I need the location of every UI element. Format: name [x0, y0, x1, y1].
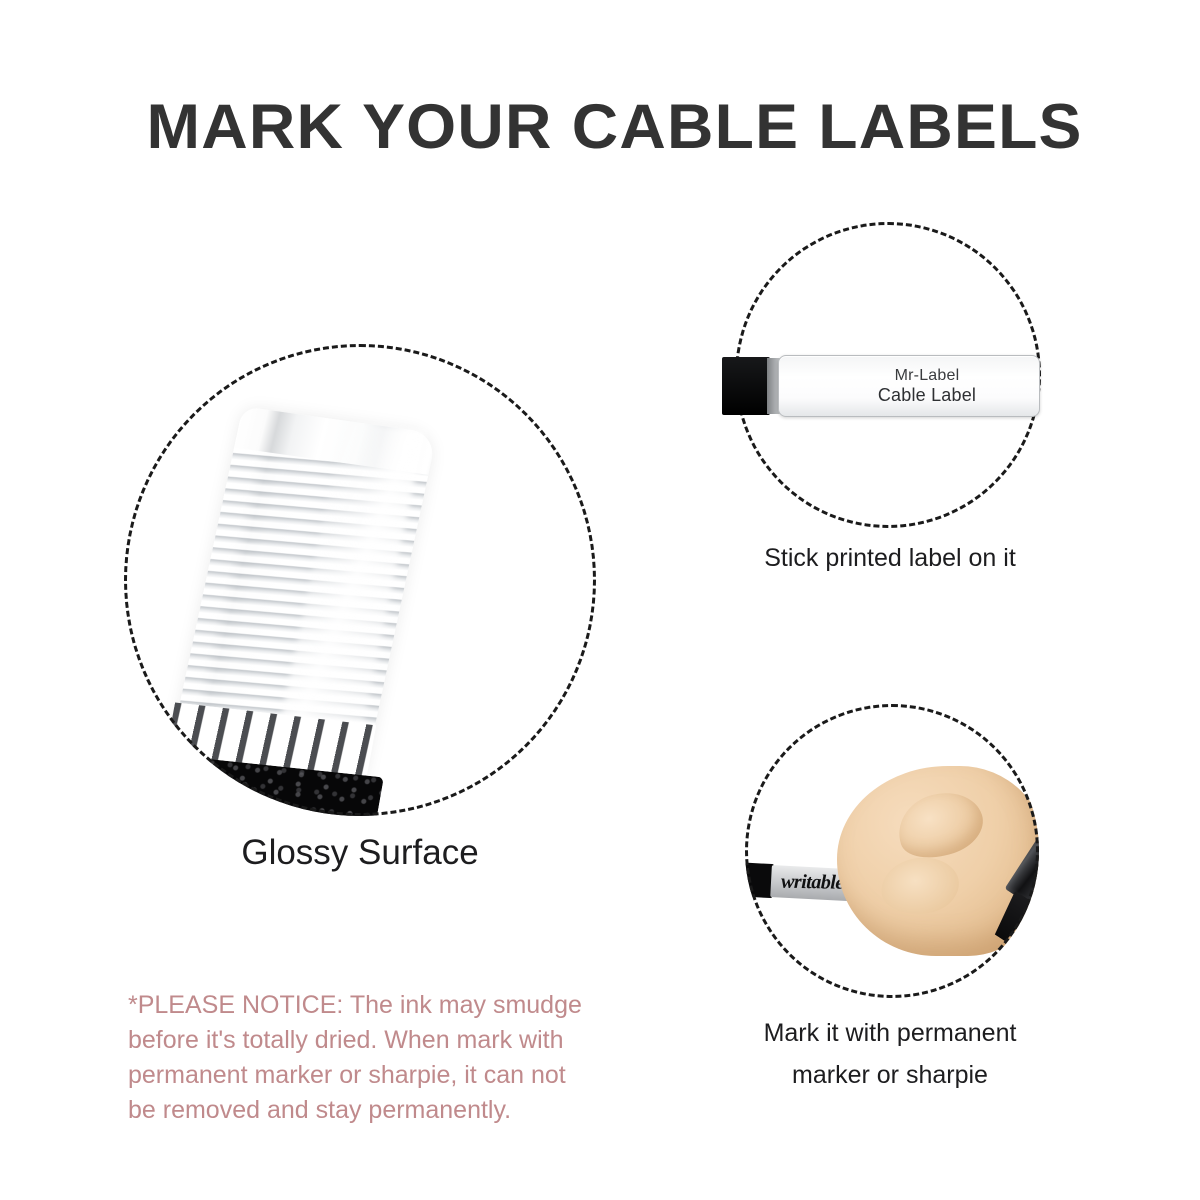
notice-line-2: before it's totally dried. When mark wit…: [128, 1023, 628, 1058]
caption-mark-with-marker: Mark it with permanent marker or sharpie: [710, 1012, 1070, 1096]
label-velcro-tab: [722, 357, 770, 415]
dashed-circle-bottom-right-icon: [745, 704, 1039, 998]
notice-line-1: *PLEASE NOTICE: The ink may smudge: [128, 988, 628, 1023]
caption-stick-printed-label: Stick printed label on it: [715, 542, 1065, 574]
caption-mark-line-2: marker or sharpie: [710, 1054, 1070, 1096]
page-title: MARK YOUR CABLE LABELS: [74, 92, 1155, 162]
please-notice-text: *PLEASE NOTICE: The ink may smudge befor…: [128, 988, 628, 1128]
printed-label-photo: Mr-Label Cable Label: [722, 353, 1062, 419]
label-brand-text: Mr-Label: [895, 366, 960, 385]
notice-line-4: be removed and stay permanently.: [128, 1093, 628, 1128]
printed-label-card: Mr-Label Cable Label: [778, 355, 1040, 417]
notice-line-3: permanent marker or sharpie, it can not: [128, 1058, 628, 1093]
label-product-text: Cable Label: [878, 385, 976, 406]
product-infographic: MARK YOUR CABLE LABELS Glossy Surface Mr…: [0, 0, 1200, 1200]
dashed-circle-left-icon: [124, 344, 596, 816]
caption-glossy-surface: Glossy Surface: [124, 832, 596, 874]
caption-mark-line-1: Mark it with permanent: [710, 1012, 1070, 1054]
